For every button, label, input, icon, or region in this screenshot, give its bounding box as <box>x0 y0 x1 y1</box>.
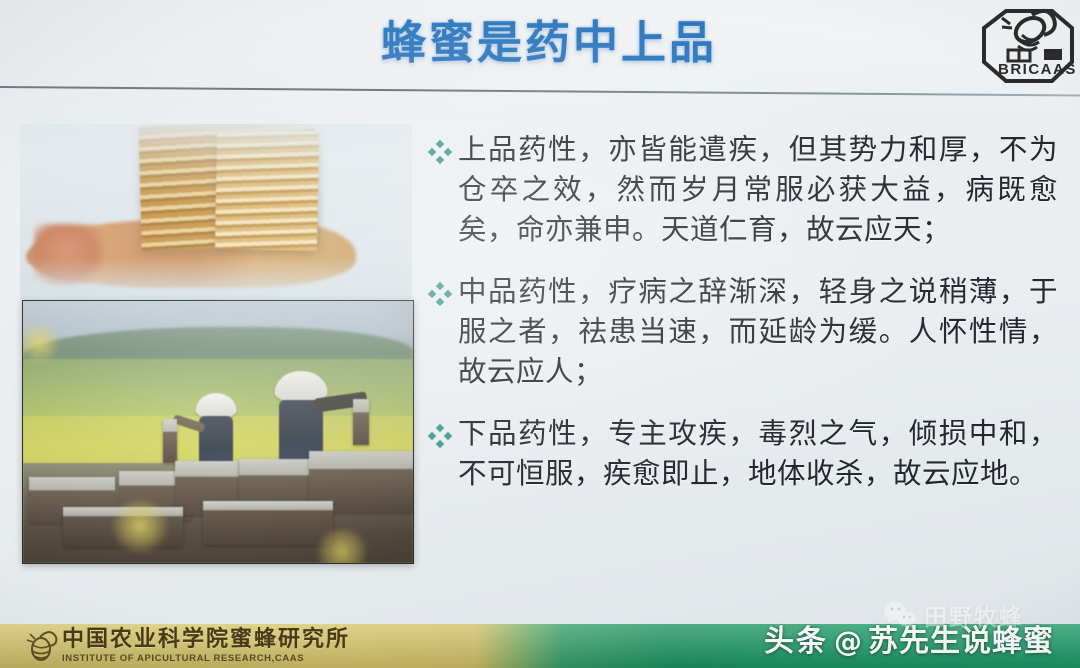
footer-org-en: INSTITUTE OF APICULTURAL RESEARCH,CAAS <box>62 653 350 665</box>
toutiao-watermark: 头条 @ 苏先生说蜂蜜 <box>764 616 1054 660</box>
toutiao-handle: 苏先生说蜂蜜 <box>868 616 1054 660</box>
caas-bee-mark-icon <box>24 627 58 663</box>
bullet-text: 下品药性，专主攻疾，毒烈之气，倾损中和，不可恒服，疾愈即止，地体收杀，故云应地。 <box>458 414 1058 494</box>
diamond-cluster-bullet-icon <box>428 414 458 448</box>
beekeepers-photo-haze <box>23 301 413 563</box>
svg-text:BRICAAS: BRICAAS <box>998 61 1077 78</box>
title-band: 蜂蜜是药中上品 <box>0 0 1080 88</box>
title-divider-rule <box>0 86 1080 97</box>
beekeepers-field-photo <box>22 300 414 564</box>
toutiao-brand: 头条 <box>764 616 828 660</box>
photo-column <box>20 124 412 564</box>
bullet-item-3: 下品药性，专主攻疾，毒烈之气，倾损中和，不可恒服，疾愈即止，地体收杀，故云应地。 <box>428 414 1058 494</box>
toutiao-at-sign: @ <box>834 625 862 658</box>
bullet-list: 上品药性，亦皆能遣疾，但其势力和厚，不为仓卒之效，然而岁月常服必获大益，病既愈矣… <box>428 130 1058 494</box>
page-title: 蜂蜜是药中上品 <box>0 6 1080 71</box>
bullet-text: 中品药性，疗病之辞渐深，轻身之说稍薄，于服之者，祛患当速，而延龄为缓。人怀性情，… <box>458 272 1058 392</box>
honeycomb-frames-photo <box>20 124 412 300</box>
footer-org-cn: 中国农业科学院蜜蜂研究所 <box>62 628 350 652</box>
bullet-text: 上品药性，亦皆能遣疾，但其势力和厚，不为仓卒之效，然而岁月常服必获大益，病既愈矣… <box>458 130 1058 250</box>
honeycomb-photo-haze <box>20 124 412 300</box>
footer-organization: 中国农业科学院蜜蜂研究所 INSTITUTE OF APICULTURAL RE… <box>62 628 350 665</box>
bricaas-logo: BRICAAS <box>966 2 1078 86</box>
diamond-cluster-bullet-icon <box>428 272 458 306</box>
diamond-cluster-bullet-icon <box>428 130 458 164</box>
bullet-item-2: 中品药性，疗病之辞渐深，轻身之说稍薄，于服之者，祛患当速，而延龄为缓。人怀性情，… <box>428 272 1058 392</box>
bullet-item-1: 上品药性，亦皆能遣疾，但其势力和厚，不为仓卒之效，然而岁月常服必获大益，病既愈矣… <box>428 130 1058 250</box>
presentation-slide: 蜂蜜是药中上品 BRICAAS <box>0 0 1080 668</box>
